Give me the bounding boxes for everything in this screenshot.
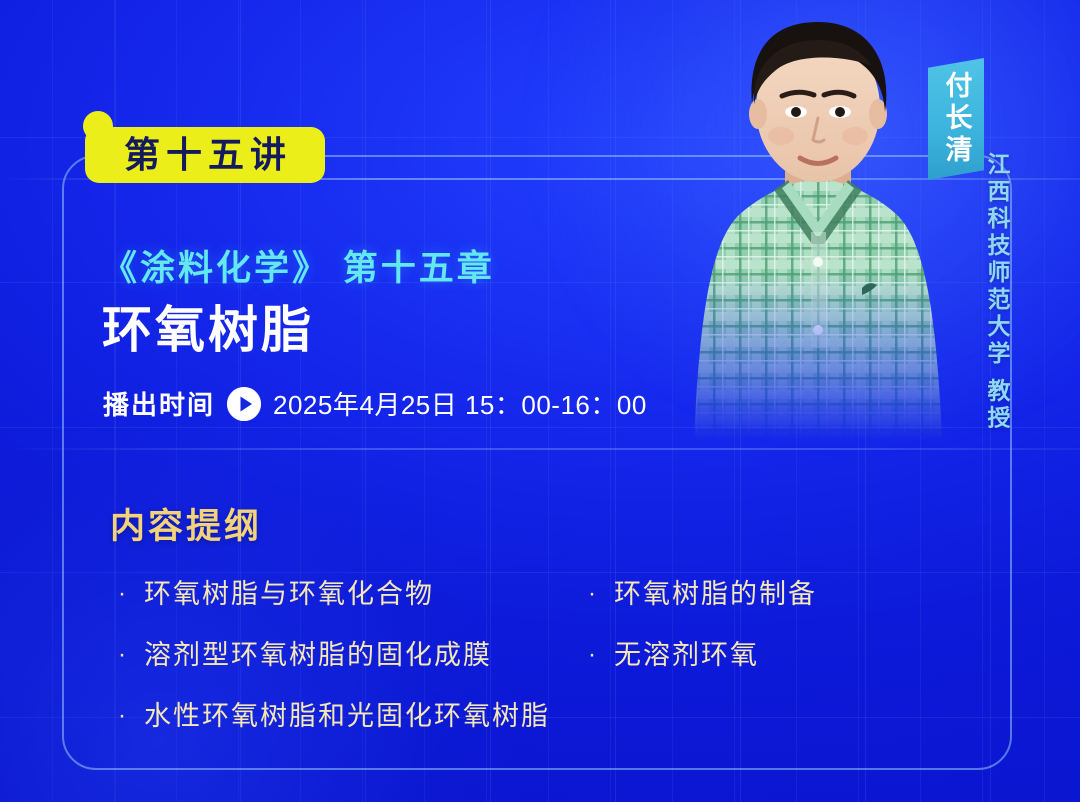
outline-columns: · 环氧树脂与环氧化合物 · 溶剂型环氧树脂的固化成膜 · 水性环氧树脂和光固化… xyxy=(118,572,948,755)
outline-item: · 溶剂型环氧树脂的固化成膜 xyxy=(118,633,588,672)
lecture-number-badge: 第十五讲 xyxy=(85,127,325,183)
outline-column-right: · 环氧树脂的制备 · 无溶剂环氧 xyxy=(588,572,948,755)
page-title: 环氧树脂 xyxy=(102,303,314,358)
outline-item: · 水性环氧树脂和光固化环氧树脂 xyxy=(118,694,588,733)
play-circle-icon[interactable] xyxy=(227,387,261,421)
outline-item-label: 无溶剂环氧 xyxy=(614,633,759,672)
outline-item: · 无溶剂环氧 xyxy=(588,633,948,672)
airtime-value: 2025年4月25日 15：00-16：00 xyxy=(273,385,647,422)
bullet-icon: · xyxy=(118,704,126,728)
outline-column-left: · 环氧树脂与环氧化合物 · 溶剂型环氧树脂的固化成膜 · 水性环氧树脂和光固化… xyxy=(118,572,588,755)
speaker-name: 付长清 xyxy=(943,71,970,167)
outline-heading: 内容提纲 xyxy=(110,498,262,549)
lecture-poster: 付长清 江西科技师范大学 教授 第十五讲 《涂料化学》 第十五章 环氧树脂 播出… xyxy=(0,0,1080,802)
lecture-number-label: 第十五讲 xyxy=(118,137,292,173)
airtime-label: 播出时间 xyxy=(103,385,215,422)
speaker-name-ribbon: 付长清 xyxy=(928,58,984,180)
chapter-subtitle: 《涂料化学》 第十五章 xyxy=(102,240,495,291)
outline-item: · 环氧树脂的制备 xyxy=(588,572,948,611)
bullet-icon: · xyxy=(588,643,596,667)
outline-item-label: 水性环氧树脂和光固化环氧树脂 xyxy=(144,694,550,733)
airtime-row: 播出时间 2025年4月25日 15：00-16：00 xyxy=(103,385,647,422)
outline-item-label: 溶剂型环氧树脂的固化成膜 xyxy=(144,633,492,672)
background-horizon-line-2 xyxy=(0,448,1080,450)
speaker-portrait xyxy=(648,0,988,440)
bullet-icon: · xyxy=(118,643,126,667)
outline-item-label: 环氧树脂与环氧化合物 xyxy=(144,572,434,611)
speaker-affiliation: 江西科技师范大学 教授 xyxy=(985,152,1008,432)
outline-item-label: 环氧树脂的制备 xyxy=(614,572,817,611)
bullet-icon: · xyxy=(118,582,126,606)
bullet-icon: · xyxy=(588,582,596,606)
outline-item: · 环氧树脂与环氧化合物 xyxy=(118,572,588,611)
